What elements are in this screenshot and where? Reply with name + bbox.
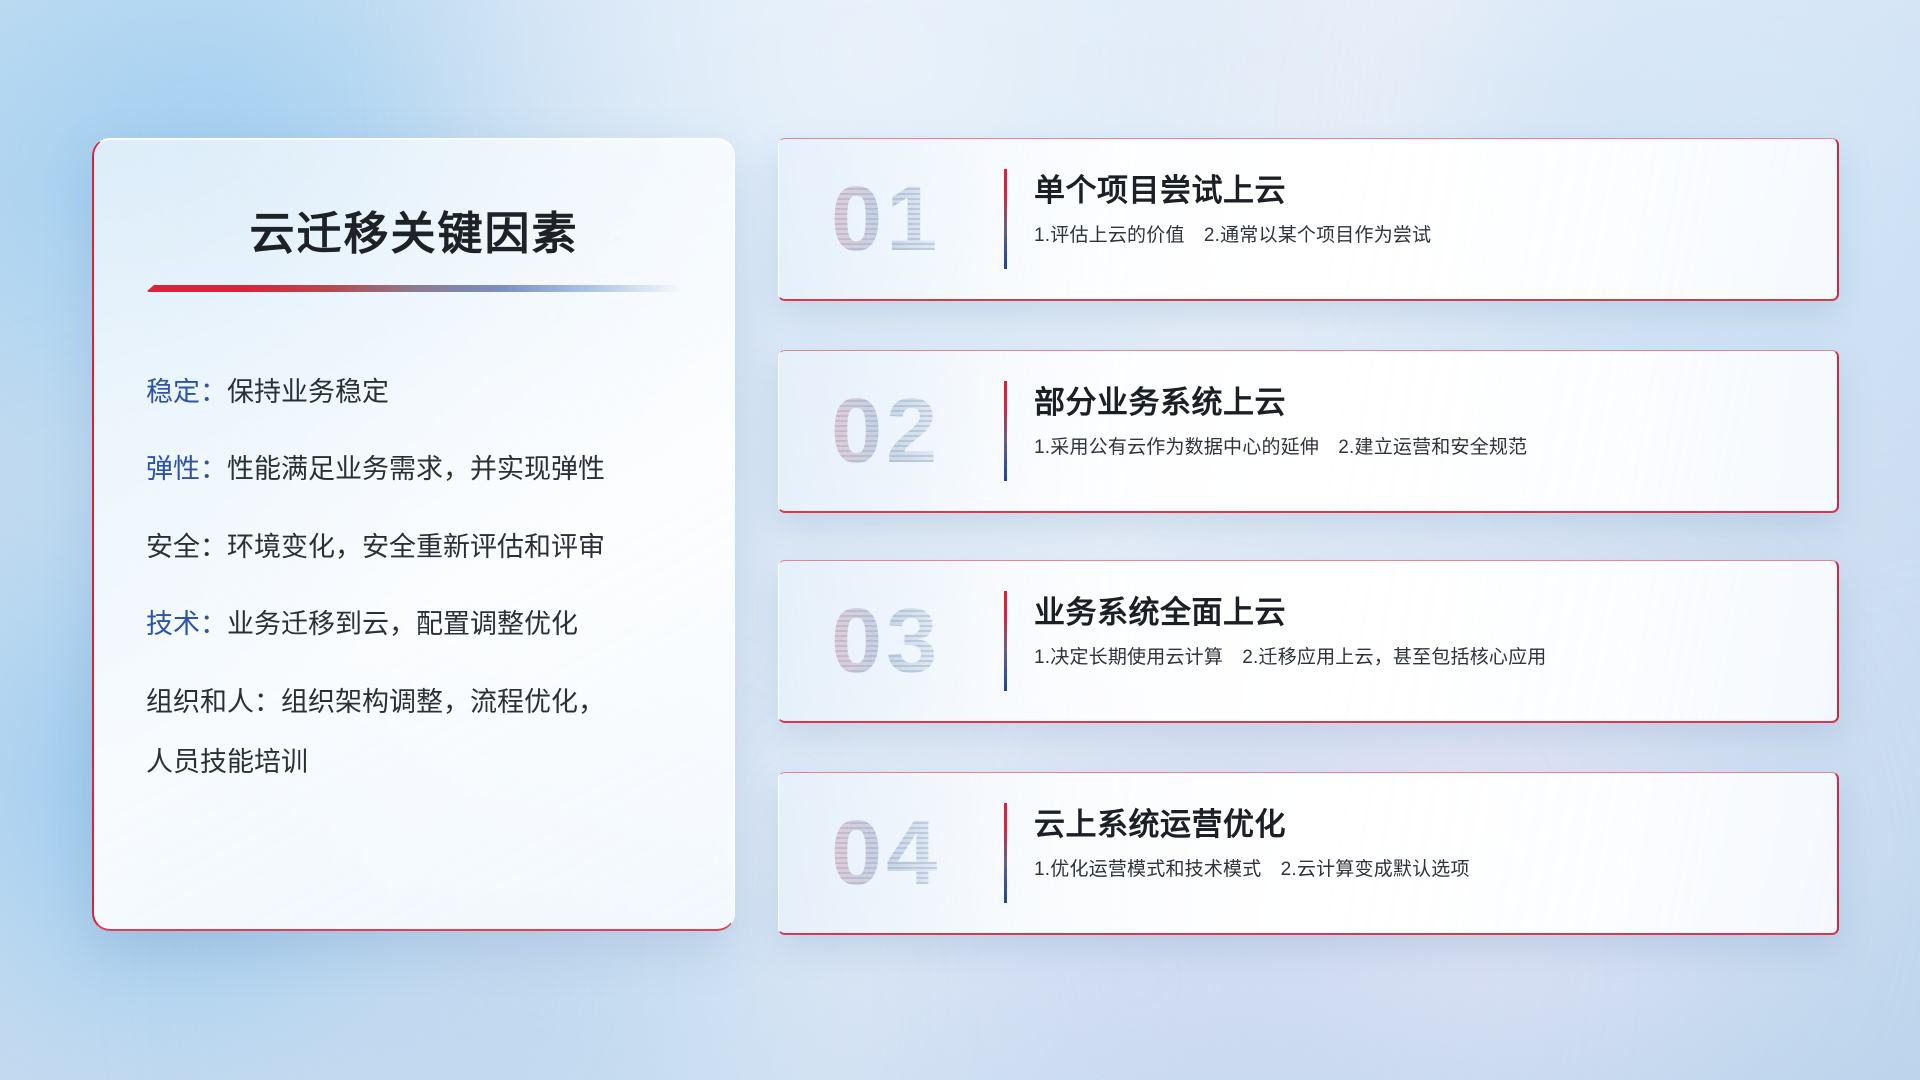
step-title: 单个项目尝试上云 [1034,173,1797,209]
list-item-continuation: 人员技能培训 [146,744,682,780]
step-title: 云上系统运营优化 [1034,807,1797,843]
list-item-value: 人员技能培训 [146,747,308,777]
step-description: 1.采用公有云作为数据中心的延伸 2.建立运营和安全规范 [1034,437,1797,460]
list-item-value: 环境变化，安全重新评估和评审 [227,532,605,562]
step-body: 业务系统全面上云 1.决定长期使用云计算 2.迁移应用上云，甚至包括核心应用 [1034,595,1797,669]
list-item: 稳定：保持业务稳定 [146,374,682,410]
step-card-01[interactable]: 01 单个项目尝试上云 1.评估上云的价值 2.通常以某个项目作为尝试 [778,138,1839,301]
step-number: 04 [831,807,941,899]
key-factors-card: 云迁移关键因素 稳定：保持业务稳定 弹性：性能满足业务需求，并实现弹性 安全：环… [92,138,735,931]
step-title: 部分业务系统上云 [1034,385,1797,421]
list-item-value: 组织架构调整，流程优化， [281,687,605,717]
list-item: 弹性：性能满足业务需求，并实现弹性 [146,451,682,487]
step-body: 单个项目尝试上云 1.评估上云的价值 2.通常以某个项目作为尝试 [1034,173,1797,247]
step-description: 1.优化运营模式和技术模式 2.云计算变成默认选项 [1034,859,1797,882]
step-body: 部分业务系统上云 1.采用公有云作为数据中心的延伸 2.建立运营和安全规范 [1034,385,1797,459]
step-card-02[interactable]: 02 部分业务系统上云 1.采用公有云作为数据中心的延伸 2.建立运营和安全规范 [778,350,1839,513]
step-number: 03 [831,595,941,687]
step-body: 云上系统运营优化 1.优化运营模式和技术模式 2.云计算变成默认选项 [1034,807,1797,881]
page-title: 云迁移关键因素 [146,207,682,261]
title-underline-divider [146,285,682,292]
step-description: 1.决定长期使用云计算 2.迁移应用上云，甚至包括核心应用 [1034,647,1797,670]
step-accent-bar [1004,803,1007,903]
list-item: 安全：环境变化，安全重新评估和评审 [146,529,682,565]
slide-stage: 云迁移关键因素 稳定：保持业务稳定 弹性：性能满足业务需求，并实现弹性 安全：环… [0,0,1920,1080]
step-number: 02 [831,385,941,477]
list-item: 技术：业务迁移到云，配置调整优化 [146,606,682,642]
list-item-label: 技术： [146,609,227,639]
key-factors-card-inner: 云迁移关键因素 稳定：保持业务稳定 弹性：性能满足业务需求，并实现弹性 安全：环… [94,139,734,929]
step-accent-bar [1004,169,1007,269]
step-card-04[interactable]: 04 云上系统运营优化 1.优化运营模式和技术模式 2.云计算变成默认选项 [778,772,1839,935]
list-item-label: 弹性： [146,454,227,484]
step-number: 01 [831,173,941,265]
list-item: 组织和人：组织架构调整，流程优化， [146,684,682,720]
list-item-label: 稳定： [146,377,227,407]
step-description: 1.评估上云的价值 2.通常以某个项目作为尝试 [1034,225,1797,248]
list-item-value: 保持业务稳定 [227,377,389,407]
list-item-value: 业务迁移到云，配置调整优化 [227,609,578,639]
step-accent-bar [1004,381,1007,481]
step-accent-bar [1004,591,1007,691]
list-item-label: 组织和人： [146,687,281,717]
key-factors-list: 稳定：保持业务稳定 弹性：性能满足业务需求，并实现弹性 安全：环境变化，安全重新… [146,374,682,781]
list-item-label: 安全： [146,532,227,562]
step-card-03[interactable]: 03 业务系统全面上云 1.决定长期使用云计算 2.迁移应用上云，甚至包括核心应… [778,560,1839,723]
step-title: 业务系统全面上云 [1034,595,1797,631]
list-item-value: 性能满足业务需求，并实现弹性 [227,454,605,484]
